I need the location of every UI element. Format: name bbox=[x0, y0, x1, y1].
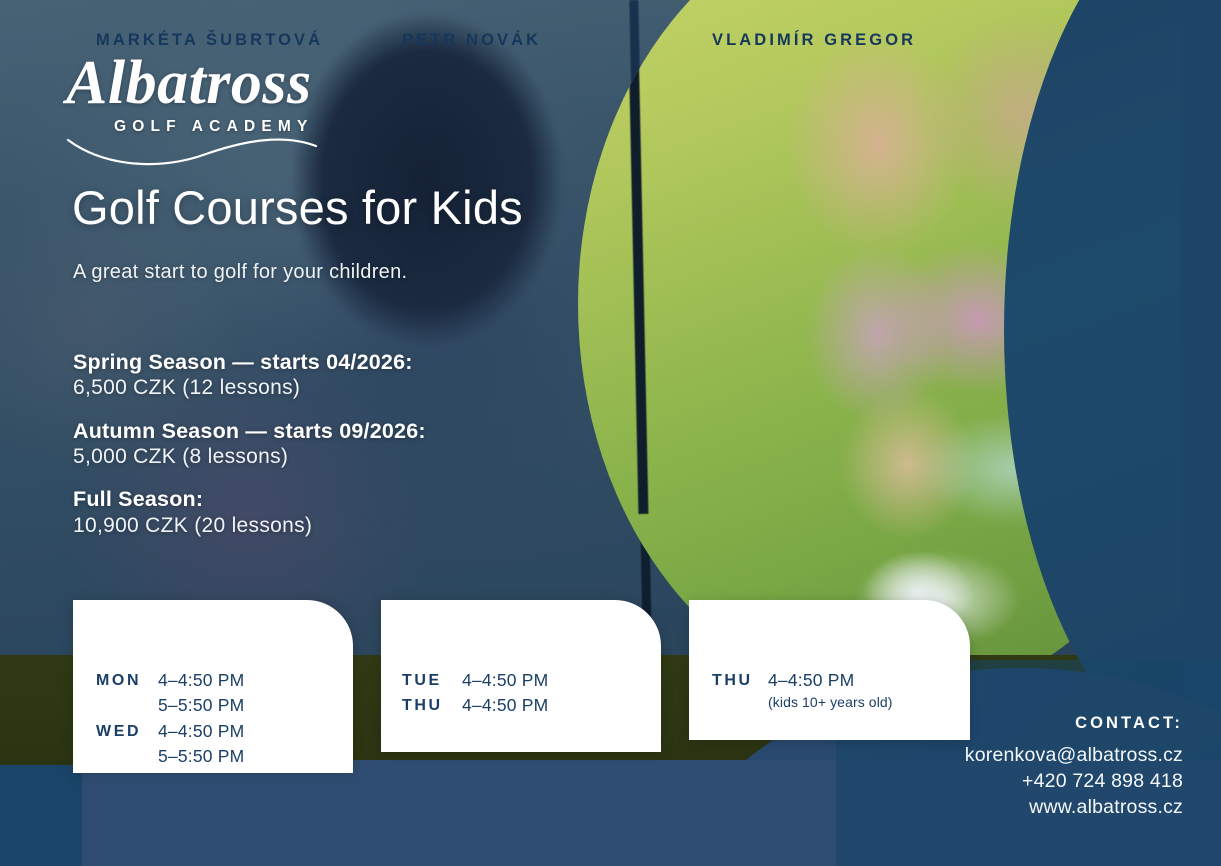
schedule-row: THU 4–4:50 PM bbox=[402, 693, 548, 718]
instructor-name: MARKÉTA ŠUBRTOVÁ bbox=[96, 31, 323, 50]
pricing-item-value: 6,500 CZK (12 lessons) bbox=[73, 375, 543, 401]
schedule-day: MON bbox=[96, 668, 158, 693]
pricing-list: Spring Season — starts 04/2026: 6,500 CZ… bbox=[73, 350, 543, 556]
pricing-item-value: 10,900 CZK (20 lessons) bbox=[73, 513, 543, 539]
schedule-time: 4–4:50 PM bbox=[768, 668, 854, 693]
schedule-day: WED bbox=[96, 719, 158, 744]
instructor-schedule: TUE 4–4:50 PM THU 4–4:50 PM bbox=[402, 668, 548, 719]
schedule-row: MON 4–4:50 PM bbox=[96, 668, 244, 693]
schedule-time: 5–5:50 PM bbox=[158, 693, 244, 718]
contact-block: CONTACT: korenkova@albatross.cz +420 724… bbox=[965, 714, 1183, 821]
schedule-day bbox=[96, 693, 158, 718]
schedule-day: THU bbox=[712, 668, 768, 693]
pricing-item-value: 5,000 CZK (8 lessons) bbox=[73, 444, 543, 470]
schedule-note: (kids 10+ years old) bbox=[712, 693, 893, 711]
photo-flagstick bbox=[628, 0, 649, 514]
brand-swoosh-icon bbox=[66, 124, 334, 170]
page-title: Golf Courses for Kids bbox=[72, 180, 523, 235]
schedule-day: TUE bbox=[402, 668, 462, 693]
schedule-row: 5–5:50 PM bbox=[96, 744, 244, 769]
instructor-schedule: THU 4–4:50 PM (kids 10+ years old) bbox=[712, 668, 893, 712]
page-subtitle: A great start to golf for your children. bbox=[73, 261, 407, 284]
instructor-name: PETR NOVÁK bbox=[402, 31, 541, 50]
contact-email[interactable]: korenkova@albatross.cz bbox=[965, 743, 1183, 769]
pricing-item: Full Season: 10,900 CZK (20 lessons) bbox=[73, 487, 543, 539]
schedule-row: WED 4–4:50 PM bbox=[96, 719, 244, 744]
schedule-time: 4–4:50 PM bbox=[462, 693, 548, 718]
poster-root: Albatross GOLF ACADEMY Golf Courses for … bbox=[0, 0, 1221, 866]
pricing-item: Autumn Season — starts 09/2026: 5,000 CZ… bbox=[73, 419, 543, 471]
pricing-item-title: Spring Season — starts 04/2026: bbox=[73, 350, 543, 375]
instructor-schedule: MON 4–4:50 PM 5–5:50 PM WED 4–4:50 PM 5–… bbox=[96, 668, 244, 770]
schedule-row: 5–5:50 PM bbox=[96, 693, 244, 718]
pricing-item-title: Autumn Season — starts 09/2026: bbox=[73, 419, 543, 444]
contact-label: CONTACT: bbox=[965, 714, 1183, 733]
schedule-time: 4–4:50 PM bbox=[158, 719, 244, 744]
schedule-day: THU bbox=[402, 693, 462, 718]
contact-website[interactable]: www.albatross.cz bbox=[965, 795, 1183, 821]
schedule-row: THU 4–4:50 PM bbox=[712, 668, 893, 693]
schedule-time: 5–5:50 PM bbox=[158, 744, 244, 769]
instructor-name: VLADIMÍR GREGOR bbox=[712, 31, 916, 50]
schedule-time: 4–4:50 PM bbox=[462, 668, 548, 693]
brand-logo: Albatross GOLF ACADEMY bbox=[66, 52, 366, 162]
pricing-item: Spring Season — starts 04/2026: 6,500 CZ… bbox=[73, 350, 543, 402]
brand-name: Albatross bbox=[66, 52, 366, 114]
ground-band-blue-left bbox=[0, 765, 82, 866]
schedule-row: TUE 4–4:50 PM bbox=[402, 668, 548, 693]
contact-phone[interactable]: +420 724 898 418 bbox=[965, 769, 1183, 795]
schedule-time: 4–4:50 PM bbox=[158, 668, 244, 693]
schedule-day bbox=[96, 744, 158, 769]
pricing-item-title: Full Season: bbox=[73, 487, 543, 512]
